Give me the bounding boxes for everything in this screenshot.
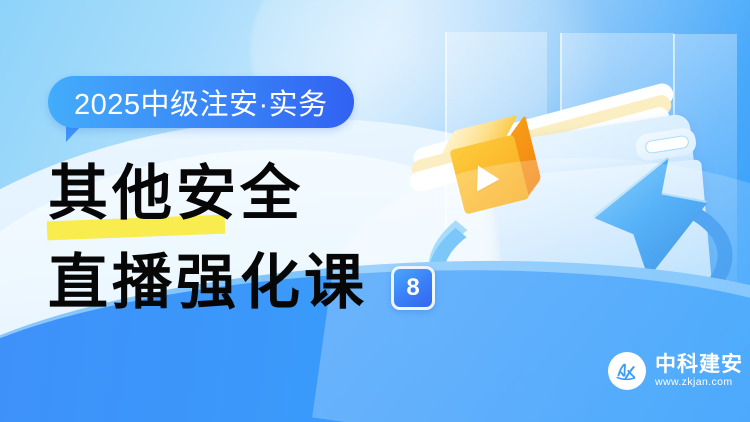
episode-number-badge-label: 8 — [406, 276, 419, 300]
tag-tail — [66, 126, 92, 142]
episode-number-badge: 8 — [391, 266, 435, 310]
brand-logo-text: 中科建安 www.zkjan.com — [655, 354, 743, 388]
brand-url: www.zkjan.com — [655, 377, 743, 388]
brand-logo: 中科建安 www.zkjan.com — [608, 352, 743, 390]
page-title-line-1: 其他安全 — [48, 164, 304, 224]
zkjan-circle-logo-icon — [608, 352, 646, 390]
page-title-line-2: 直播强化课 — [48, 253, 368, 313]
course-category-tag-label: 2025中级注安·实务 — [74, 81, 328, 123]
brand-name: 中科建安 — [655, 354, 743, 375]
course-category-tag: 2025中级注安·实务 — [48, 76, 354, 128]
course-promo-banner: 2025中级注安·实务 其他安全 直播强化课 8 中科建安 www.zkjan.… — [0, 0, 750, 422]
